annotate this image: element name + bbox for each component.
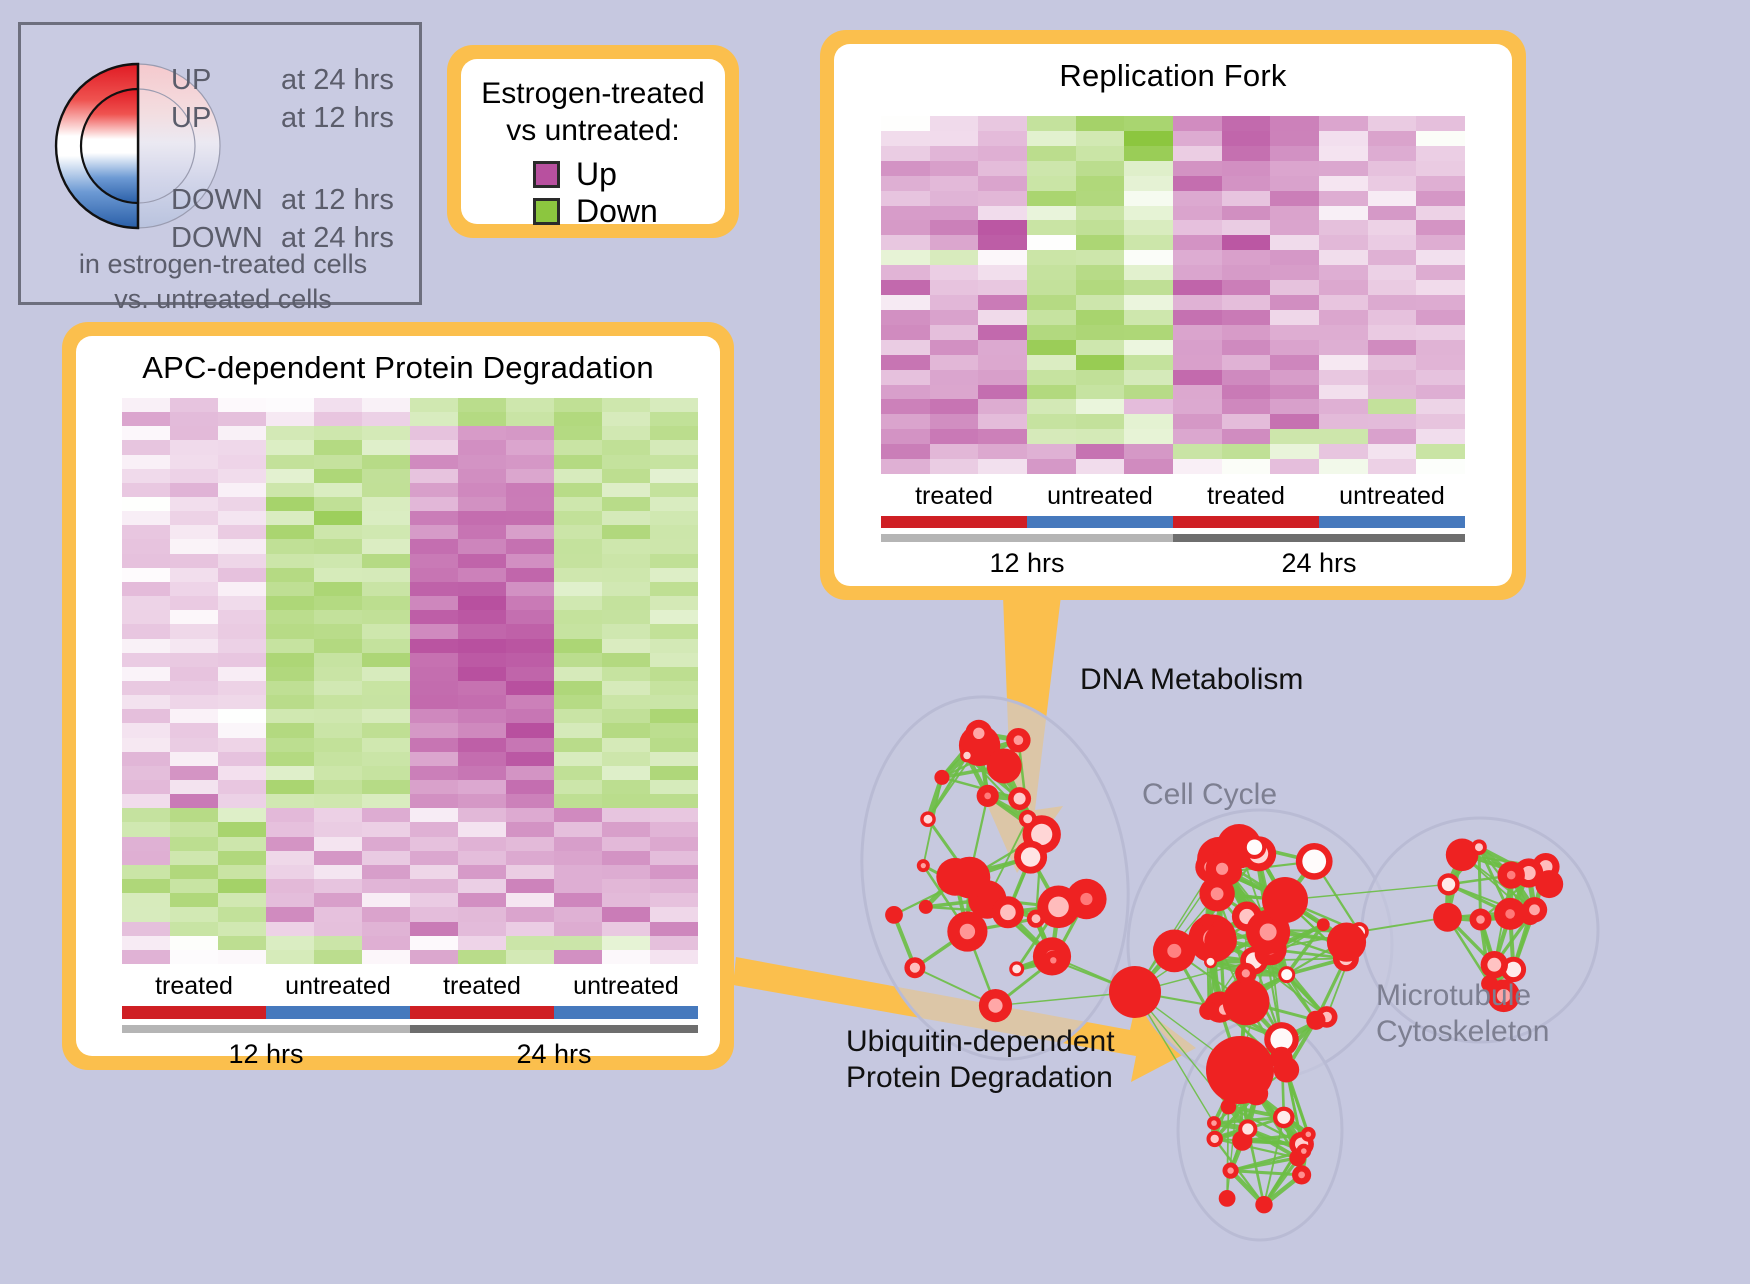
heatmap-cell (1076, 146, 1125, 161)
heatmap-cell (458, 766, 506, 780)
heatmap-cell (881, 340, 930, 355)
treated-bar (122, 1006, 266, 1019)
heatmap-cell (1368, 265, 1417, 280)
heatmap-cell (1173, 280, 1222, 295)
network-node-core (1302, 850, 1326, 874)
heatmap-cell (506, 822, 554, 836)
heatmap-cell (602, 709, 650, 723)
network-node-core (984, 793, 991, 800)
heatmap-cell (554, 568, 602, 582)
heatmap-cell (170, 539, 218, 553)
heatmap-cell (458, 469, 506, 483)
heatmap-cell (554, 624, 602, 638)
heatmap-cell (122, 624, 170, 638)
heatmap-cell (1270, 161, 1319, 176)
heatmap-cell (650, 440, 698, 454)
heatmap-cell (1027, 370, 1076, 385)
heatmap-cell (1368, 399, 1417, 414)
cluster-label-line1: Ubiquitin-dependent (846, 1024, 1115, 1060)
heatmap-cell (410, 851, 458, 865)
heatmap-cell (218, 907, 266, 921)
heatmap-cell (602, 738, 650, 752)
heatmap-cell (1173, 131, 1222, 146)
heatmap-cell (650, 695, 698, 709)
heatmap-cell (602, 752, 650, 766)
colorwheel-key: DOWN (171, 181, 281, 219)
heatmap-cell (650, 936, 698, 950)
network-node[interactable] (1306, 1011, 1325, 1030)
network-node-core (1080, 893, 1092, 905)
heatmap-cell (1319, 161, 1368, 176)
heatmap-cell (602, 893, 650, 907)
network-node[interactable] (934, 770, 949, 785)
colorwheel-value: at 12 hrs (281, 99, 394, 137)
heatmap-cell (266, 554, 314, 568)
heatmap-cell (1416, 146, 1465, 161)
heatmap-cell (930, 414, 979, 429)
heatmap-cell (554, 497, 602, 511)
heatmap-cell (602, 723, 650, 737)
heatmap-cell (1173, 191, 1222, 206)
heatmap-cell (410, 469, 458, 483)
heatmap-cell (218, 936, 266, 950)
heatmap-cell (410, 525, 458, 539)
heatmap-cell (122, 610, 170, 624)
heatmap-cell (1173, 146, 1222, 161)
heatmap-cell (1173, 444, 1222, 459)
heatmap-cell (506, 483, 554, 497)
heatmap-cell (650, 412, 698, 426)
heatmap-cell (554, 667, 602, 681)
heatmap-cell (978, 414, 1027, 429)
heatmap-cell (930, 325, 979, 340)
heatmap-cell (881, 414, 930, 429)
heatmap-cell (1222, 340, 1271, 355)
heatmap-cell (362, 851, 410, 865)
heatmap-cell (266, 455, 314, 469)
heatmap-cell (1416, 355, 1465, 370)
heatmap-cell (1173, 355, 1222, 370)
heatmap-cell (458, 511, 506, 525)
heatmap-cell (1076, 399, 1125, 414)
heatmap-cell (362, 822, 410, 836)
network-node-core (1529, 904, 1540, 915)
heatmap-cell (122, 681, 170, 695)
heatmap-cell (1076, 340, 1125, 355)
heatmap-cell (978, 399, 1027, 414)
heatmap-cell (1416, 310, 1465, 325)
network-node[interactable] (1206, 1036, 1274, 1104)
heatmap-cell (1222, 146, 1271, 161)
heatmap-cell (458, 426, 506, 440)
network-node[interactable] (1327, 923, 1366, 962)
heatmap-cell (1173, 295, 1222, 310)
heatmap-cell (602, 440, 650, 454)
time24-bar (1173, 534, 1465, 542)
heatmap-cell (170, 865, 218, 879)
heatmap-cell (122, 738, 170, 752)
heatmap-cell (458, 539, 506, 553)
heatmap-cell (170, 426, 218, 440)
network-node-core (1211, 1120, 1217, 1126)
heatmap-cell (506, 539, 554, 553)
heatmap-cell (218, 822, 266, 836)
heatmap-cell (410, 879, 458, 893)
heatmap-cell (1368, 340, 1417, 355)
heatmap-cell (1173, 429, 1222, 444)
network-node-core (1301, 1148, 1307, 1154)
heatmap-cell (314, 511, 362, 525)
heatmap-cell (978, 459, 1027, 474)
heatmap-cell (458, 483, 506, 497)
heatmap-cell (554, 539, 602, 553)
heatmap-cell (554, 426, 602, 440)
legend-item-up: Up (533, 157, 725, 191)
heatmap-cell (650, 780, 698, 794)
network-node[interactable] (1535, 870, 1563, 898)
heatmap-cell (122, 568, 170, 582)
heatmap-cell (1368, 310, 1417, 325)
heatmap-cell (506, 936, 554, 950)
colorwheel-row: UP at 12 hrs (171, 99, 421, 137)
heatmap-cell (410, 582, 458, 596)
network-node-core (973, 728, 984, 739)
heatmap-cell (881, 280, 930, 295)
heatmap-cell (1027, 459, 1076, 474)
time-label: 12 hrs (881, 548, 1173, 579)
heatmap-cell (650, 582, 698, 596)
network-node-core (988, 999, 1002, 1013)
heatmap-cell (650, 455, 698, 469)
heatmap-cell (1270, 191, 1319, 206)
heatmap-cell (1076, 370, 1125, 385)
heatmap-cell (218, 596, 266, 610)
heatmap-cell (266, 837, 314, 851)
heatmap-cell (170, 695, 218, 709)
heatmap-cell (650, 950, 698, 964)
heatmap-cell (1027, 414, 1076, 429)
network-node[interactable] (1433, 903, 1462, 932)
legend-label-up: Up (576, 157, 617, 191)
heatmap-cell (1173, 414, 1222, 429)
heatmap-cell (170, 950, 218, 964)
sample-label: treated (122, 972, 266, 1001)
heatmap-cell (602, 822, 650, 836)
heatmap-cell (266, 808, 314, 822)
heatmap-cell (1027, 325, 1076, 340)
heatmap-cell (314, 667, 362, 681)
heatmap-cell (458, 639, 506, 653)
heatmap-cell (1076, 325, 1125, 340)
treated-bar (410, 1006, 554, 1019)
network-node[interactable] (1219, 1190, 1236, 1207)
heatmap-cell (506, 610, 554, 624)
heatmap-cell (170, 766, 218, 780)
heatmap-cell (506, 879, 554, 893)
network-node-core (1260, 924, 1277, 941)
heatmap-cell (266, 511, 314, 525)
network-node-core (960, 924, 975, 939)
treatment-bar-replication-fork (881, 516, 1465, 528)
heatmap-cell (362, 497, 410, 511)
heatmap-cell (218, 653, 266, 667)
heatmap-cell (314, 624, 362, 638)
heatmap-cell (506, 723, 554, 737)
heatmap-cell (170, 907, 218, 921)
sample-label: treated (881, 482, 1027, 511)
heatmap-cell (1124, 265, 1173, 280)
heatmap-cell (650, 525, 698, 539)
heatmap-cell (650, 554, 698, 568)
treatment-bar-apc (122, 1006, 698, 1019)
heatmap-cell (506, 709, 554, 723)
sample-label: treated (1173, 482, 1319, 511)
heatmap-cell (1270, 459, 1319, 474)
sample-labels-apc: treated untreated treated untreated (122, 972, 698, 1001)
heatmap-cell (602, 695, 650, 709)
heatmap-cell (506, 808, 554, 822)
network-node[interactable] (1317, 918, 1330, 931)
heatmap-cell (170, 582, 218, 596)
heatmap-cell (1173, 206, 1222, 221)
heatmap-cell (410, 653, 458, 667)
heatmap-cell (1368, 220, 1417, 235)
heatmap-cell (1270, 250, 1319, 265)
heatmap-cell (1319, 355, 1368, 370)
heatmap-cell (881, 235, 930, 250)
network-node[interactable] (1255, 1196, 1272, 1213)
network-node[interactable] (919, 900, 933, 914)
heatmap-cell (122, 752, 170, 766)
heatmap-cell (554, 681, 602, 695)
heatmap-cell (1368, 191, 1417, 206)
network-node[interactable] (1223, 979, 1270, 1026)
network-node-core (1167, 944, 1181, 958)
network-node[interactable] (1262, 877, 1308, 923)
heatmap-cell (410, 936, 458, 950)
heatmap-cell (978, 146, 1027, 161)
heatmap-cell (458, 695, 506, 709)
heatmap-cell (458, 398, 506, 412)
heatmap-cell (362, 539, 410, 553)
heatmap-cell (1319, 206, 1368, 221)
heatmap-cell (266, 893, 314, 907)
heatmap-cell (554, 582, 602, 596)
heatmap-cell (170, 398, 218, 412)
heatmap-cell (506, 780, 554, 794)
heatmap-cell (266, 681, 314, 695)
network-node[interactable] (885, 906, 903, 924)
heatmap-cell (122, 639, 170, 653)
heatmap-cell (1368, 325, 1417, 340)
heatmap-cell (170, 922, 218, 936)
heatmap-cell (650, 907, 698, 921)
colorwheel-caption-line2: vs. untreated cells (21, 282, 425, 317)
heatmap-cell (362, 709, 410, 723)
heatmap-cell (314, 851, 362, 865)
heatmap-cell (506, 950, 554, 964)
heatmap-cell (458, 752, 506, 766)
heatmap-cell (314, 440, 362, 454)
heatmap-cell (410, 667, 458, 681)
heatmap-cell (362, 624, 410, 638)
heatmap-cell (266, 851, 314, 865)
heatmap-cell (650, 681, 698, 695)
heatmap-cell (458, 865, 506, 879)
heatmap-cell (218, 723, 266, 737)
heatmap-cell (1270, 280, 1319, 295)
heatmap-cell (314, 822, 362, 836)
heatmap-cell (1222, 444, 1271, 459)
heatmap-cell (458, 525, 506, 539)
heatmap-cell (602, 808, 650, 822)
network-node-core (1506, 962, 1521, 977)
heatmap-cell (170, 794, 218, 808)
heatmap-cell (1368, 131, 1417, 146)
up-swatch-icon (533, 161, 560, 188)
pathway-network-diagram: DNA Metabolism Cell Cycle Microtubule Cy… (780, 600, 1750, 1279)
heatmap-cell (978, 250, 1027, 265)
heatmap-cell (602, 907, 650, 921)
network-node[interactable] (1109, 966, 1161, 1018)
heatmap-cell (266, 568, 314, 582)
heatmap-cell (881, 206, 930, 221)
heatmap-cell (410, 455, 458, 469)
heatmap-cell (881, 444, 930, 459)
heatmap-cell (930, 370, 979, 385)
heatmap-cell (362, 426, 410, 440)
heatmap-cell (362, 752, 410, 766)
heatmap-cell (881, 370, 930, 385)
heatmap-cell (1270, 265, 1319, 280)
heatmap-cell (218, 582, 266, 596)
heatmap-cell (218, 780, 266, 794)
heatmap-cell (218, 851, 266, 865)
heatmap-cell (1319, 399, 1368, 414)
network-node[interactable] (1204, 925, 1237, 958)
heatmap-cell (314, 936, 362, 950)
heatmap-cell (362, 582, 410, 596)
heatmap-cell (1222, 459, 1271, 474)
heatmap-cell (1124, 116, 1173, 131)
heatmap-cell (218, 469, 266, 483)
heatmap-cell (930, 444, 979, 459)
network-node[interactable] (987, 749, 1022, 784)
down-swatch-icon (533, 198, 560, 225)
heatmap-cell (362, 766, 410, 780)
heatmap-cell (266, 709, 314, 723)
heatmap-cell (1222, 399, 1271, 414)
heatmap-cell (266, 483, 314, 497)
heatmap-cell (362, 554, 410, 568)
heatmap-cell (1319, 370, 1368, 385)
heatmap-cell (554, 455, 602, 469)
network-node[interactable] (1200, 914, 1214, 928)
heatmap-cell (506, 398, 554, 412)
heatmap-cell (410, 483, 458, 497)
heatmap-cell (1027, 265, 1076, 280)
heatmap-cell (1319, 325, 1368, 340)
heatmap-cell (650, 497, 698, 511)
heatmap-cell (1270, 385, 1319, 400)
heatmap-cell (1270, 429, 1319, 444)
heatmap-cell (410, 596, 458, 610)
colorwheel-key: UP (171, 99, 281, 137)
heatmap-cell (410, 766, 458, 780)
heatmap-cell (881, 265, 930, 280)
heatmap-cell (218, 950, 266, 964)
heatmap-cell (978, 280, 1027, 295)
heatmap-cell (122, 653, 170, 667)
heatmap-cell (1124, 429, 1173, 444)
heatmap-cell (1027, 385, 1076, 400)
heatmap-cell (1173, 116, 1222, 131)
heatmap-cell (170, 653, 218, 667)
heatmap-cell (170, 822, 218, 836)
heatmap-cell (362, 398, 410, 412)
heatmap-cell (1076, 355, 1125, 370)
cluster-label-line2: Cytoskeleton (1376, 1014, 1549, 1050)
heatmap-cell (218, 837, 266, 851)
heatmap-cell (506, 907, 554, 921)
heatmap-cell (554, 851, 602, 865)
heatmap-cell (650, 808, 698, 822)
heatmap-cell (314, 469, 362, 483)
heatmap-cell (266, 469, 314, 483)
heatmap-cell (554, 907, 602, 921)
heatmap-cell (1270, 206, 1319, 221)
heatmap-cell (1368, 116, 1417, 131)
heatmap-cell (1076, 235, 1125, 250)
heatmap-cell (1319, 459, 1368, 474)
heatmap-cell (1173, 250, 1222, 265)
heatmap-cell (218, 695, 266, 709)
network-node-core (1023, 814, 1032, 823)
heatmap-cell (122, 554, 170, 568)
heatmap-cell (650, 723, 698, 737)
heatmap-cell (930, 116, 979, 131)
heatmap-cell (881, 146, 930, 161)
heatmap-cell (218, 497, 266, 511)
heatmap-cell (1319, 295, 1368, 310)
heatmap-cell (978, 131, 1027, 146)
heatmap-cell (314, 455, 362, 469)
heatmap-cell (602, 511, 650, 525)
heatmap-cell (170, 723, 218, 737)
heatmap-cell (1416, 444, 1465, 459)
heatmap-cell (362, 794, 410, 808)
heatmap-cell (1416, 176, 1465, 191)
heatmap-cell (554, 723, 602, 737)
heatmap-cell (122, 525, 170, 539)
heatmap-cell (650, 596, 698, 610)
time-label: 24 hrs (1173, 548, 1465, 579)
heatmap-cell (218, 709, 266, 723)
heatmap-cell (314, 950, 362, 964)
heatmap-cell (410, 893, 458, 907)
network-node[interactable] (936, 858, 974, 896)
heatmap-cell (554, 398, 602, 412)
heatmap-cell (602, 596, 650, 610)
updown-legend-panel: Estrogen-treated vs untreated: Up Down (447, 45, 739, 238)
heatmap-cell (602, 525, 650, 539)
network-node-core (1242, 969, 1250, 977)
heatmap-cell (410, 780, 458, 794)
heatmap-cell (1076, 191, 1125, 206)
heatmap-cell (602, 851, 650, 865)
heatmap-cell (602, 455, 650, 469)
heatmap-cell (362, 907, 410, 921)
